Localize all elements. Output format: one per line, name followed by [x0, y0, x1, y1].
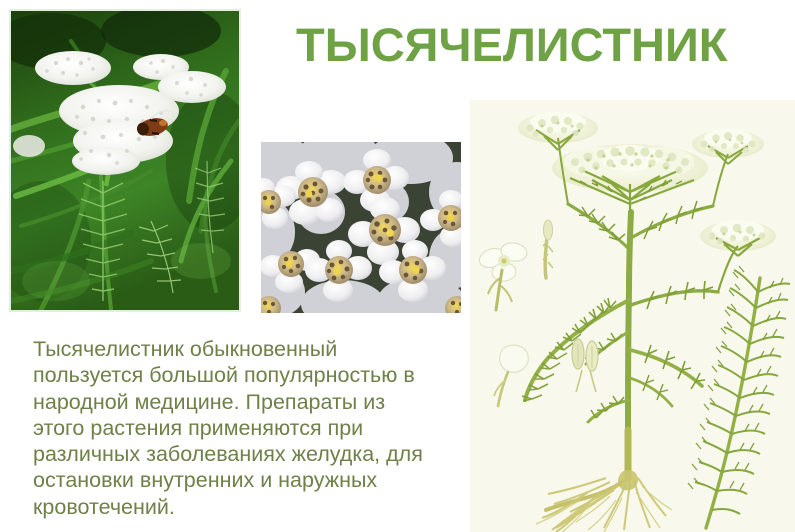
paragraph-line: остановки внутренних и наружных	[33, 467, 473, 493]
photo-florets-macro	[261, 142, 461, 313]
paragraph-line: народной медицине. Препараты из	[33, 389, 473, 415]
body-paragraph: Тысячелистник обыкновенный пользуется бо…	[33, 336, 473, 520]
paragraph-line: кровотечений.	[33, 494, 473, 520]
photo-meadow-graphic	[11, 11, 239, 310]
photo-florets-graphic	[261, 142, 461, 313]
photo-meadow-yarrow	[9, 9, 241, 312]
paragraph-line: Тысячелистник обыкновенный	[33, 336, 473, 362]
paragraph-line: пользуется большой популярностью в	[33, 362, 473, 388]
paragraph-line: различных заболеваниях желудка, для	[33, 441, 473, 467]
page-title: ТЫСЯЧЕЛИСТНИК	[296, 16, 766, 74]
botanical-illustration-graphic	[470, 100, 795, 532]
paragraph-line: этого растения применяются при	[33, 415, 473, 441]
botanical-illustration	[470, 100, 795, 532]
